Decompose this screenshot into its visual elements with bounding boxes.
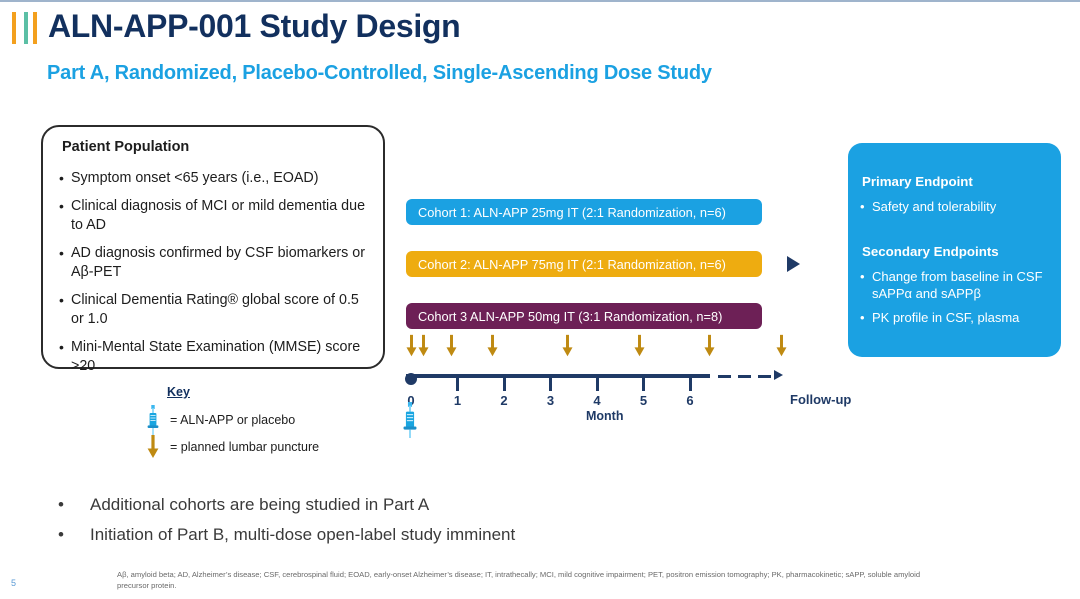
key-item-label: = ALN-APP or placebo [170, 413, 295, 427]
bullet-icon: • [58, 492, 90, 518]
timeline-arrow-head-icon [774, 370, 783, 380]
timeline-dash-1 [718, 375, 731, 378]
patient-population-list: • Symptom onset <65 years (i.e., EOAD) •… [59, 169, 375, 385]
timeline-tick [689, 374, 692, 391]
list-item-label: Symptom onset <65 years (i.e., EOAD) [71, 169, 319, 188]
logo-bar-3 [33, 12, 37, 44]
down-arrow-icon [136, 435, 170, 459]
study-timeline: Follow-up Month 0123456 [400, 330, 870, 450]
logo-bar-1 [12, 12, 16, 44]
footnote-abbreviations: Aβ, amyloid beta; AD, Alzheimer’s diseas… [117, 570, 947, 591]
timeline-axis [406, 374, 710, 378]
footer-bullet-list: • Additional cohorts are being studied i… [58, 492, 515, 552]
page-subtitle: Part A, Randomized, Placebo-Controlled, … [47, 62, 712, 85]
key-item-label: = planned lumbar puncture [170, 440, 319, 454]
secondary-endpoints-list: • Change from baseline in CSF sAPPα and … [860, 268, 1055, 333]
secondary-endpoints-title: Secondary Endpoints [862, 244, 999, 259]
list-item-label: Mini-Mental State Examination (MMSE) sco… [71, 338, 375, 376]
list-item-label: Change from baseline in CSF sAPPα and sA… [872, 268, 1055, 302]
down-arrow-icon [417, 334, 430, 363]
bullet-icon: • [59, 244, 71, 282]
timeline-tick-label: 5 [640, 393, 647, 408]
list-item-label: Safety and tolerability [872, 198, 996, 215]
cohort-bar-1[interactable]: Cohort 1: ALN-APP 25mg IT (2:1 Randomiza… [406, 199, 762, 225]
list-item-label: PK profile in CSF, plasma [872, 309, 1019, 326]
list-item-label: Clinical Dementia Rating® global score o… [71, 291, 375, 329]
list-item: • Initiation of Part B, multi-dose open-… [58, 522, 515, 548]
bullet-icon: • [59, 338, 71, 376]
list-item: • Change from baseline in CSF sAPPα and … [860, 268, 1055, 302]
followup-label: Follow-up [790, 392, 851, 407]
list-item: • Clinical diagnosis of MCI or mild deme… [59, 197, 375, 235]
syringe-icon [400, 402, 420, 443]
timeline-tick [549, 374, 552, 391]
timeline-dash-3 [758, 375, 771, 378]
page-number: 5 [11, 578, 16, 588]
timeline-tick-label: 3 [547, 393, 554, 408]
patient-population-card: Patient Population • Symptom onset <65 y… [41, 125, 385, 369]
down-arrow-icon [703, 334, 716, 363]
down-arrow-icon [445, 334, 458, 363]
bullet-icon: • [860, 309, 872, 326]
down-arrow-icon [486, 334, 499, 363]
timeline-tick-label: 2 [500, 393, 507, 408]
list-item-label: Additional cohorts are being studied in … [90, 492, 429, 518]
cohort-bar-2[interactable]: Cohort 2: ALN-APP 75mg IT (2:1 Randomiza… [406, 251, 762, 277]
cohort-bar-3[interactable]: Cohort 3 ALN-APP 50mg IT (3:1 Randomizat… [406, 303, 762, 329]
bullet-icon: • [58, 522, 90, 548]
bullet-icon: • [860, 268, 872, 302]
syringe-icon [136, 405, 170, 435]
timeline-tick-label: 1 [454, 393, 461, 408]
play-triangle-icon [787, 256, 800, 272]
timeline-dash-2 [738, 375, 751, 378]
key-item-lumbar-puncture: = planned lumbar puncture [136, 435, 319, 459]
bullet-icon: • [59, 169, 71, 188]
cohort-label: Cohort 1: ALN-APP 25mg IT (2:1 Randomiza… [418, 205, 726, 220]
timeline-tick [456, 374, 459, 391]
timeline-start-dot-icon [405, 373, 417, 385]
timeline-tick-label: 4 [593, 393, 600, 408]
cohort-label: Cohort 3 ALN-APP 50mg IT (3:1 Randomizat… [418, 309, 722, 324]
list-item-label: AD diagnosis confirmed by CSF biomarkers… [71, 244, 375, 282]
primary-endpoint-title: Primary Endpoint [862, 174, 973, 189]
key-title: Key [167, 385, 190, 399]
down-arrow-icon [561, 334, 574, 363]
endpoints-card: Primary Endpoint • Safety and tolerabili… [848, 143, 1061, 357]
patient-population-title: Patient Population [62, 139, 189, 155]
timeline-tick-label: 6 [686, 393, 693, 408]
bullet-icon: • [59, 291, 71, 329]
key-item-dose: = ALN-APP or placebo [136, 405, 295, 435]
timeline-tick [503, 374, 506, 391]
list-item: • Mini-Mental State Examination (MMSE) s… [59, 338, 375, 376]
brand-logo-icon [12, 12, 46, 44]
timeline-tick [596, 374, 599, 391]
down-arrow-icon [775, 334, 788, 363]
page-title: ALN-APP-001 Study Design [48, 8, 460, 45]
list-item: • Clinical Dementia Rating® global score… [59, 291, 375, 329]
down-arrow-icon [633, 334, 646, 363]
list-item-label: Clinical diagnosis of MCI or mild dement… [71, 197, 375, 235]
top-divider [0, 0, 1080, 2]
list-item: • Safety and tolerability [860, 198, 1055, 215]
bullet-icon: • [860, 198, 872, 215]
bullet-icon: • [59, 197, 71, 235]
primary-endpoint-list: • Safety and tolerability [860, 198, 1055, 222]
logo-bar-2 [24, 12, 28, 44]
list-item: • AD diagnosis confirmed by CSF biomarke… [59, 244, 375, 282]
list-item: • Symptom onset <65 years (i.e., EOAD) [59, 169, 375, 188]
list-item: • Additional cohorts are being studied i… [58, 492, 515, 518]
list-item-label: Initiation of Part B, multi-dose open-la… [90, 522, 515, 548]
timeline-tick [642, 374, 645, 391]
cohort-label: Cohort 2: ALN-APP 75mg IT (2:1 Randomiza… [418, 257, 726, 272]
axis-label-month: Month [586, 409, 623, 423]
list-item: • PK profile in CSF, plasma [860, 309, 1055, 326]
